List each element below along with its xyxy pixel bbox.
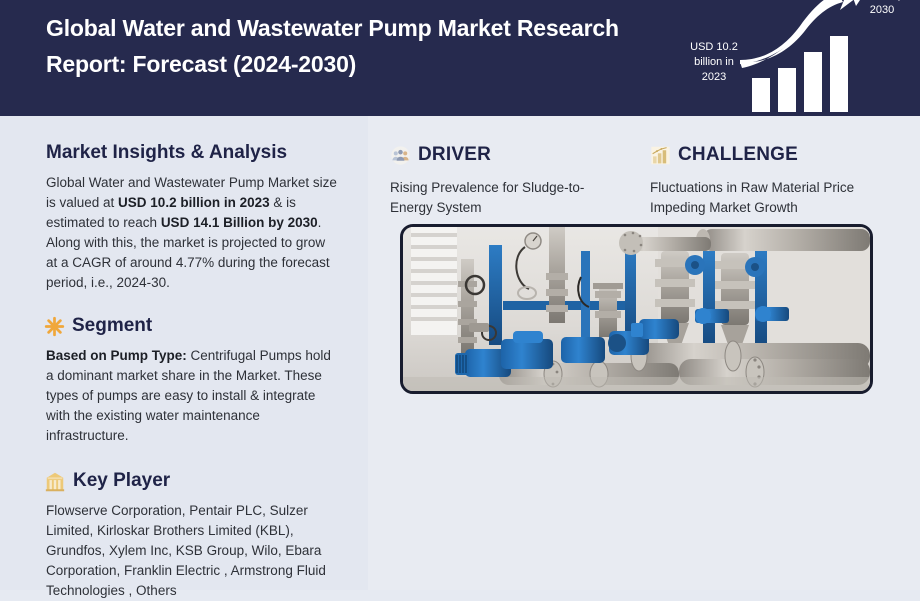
challenge-heading: CHALLENGE (650, 144, 900, 166)
segment-body-bold: Based on Pump Type: (46, 348, 187, 363)
driver-heading: DRIVER (390, 144, 626, 166)
segment-body: Based on Pump Type: Centrifugal Pumps ho… (46, 346, 340, 446)
header-bar-3 (804, 52, 822, 112)
pump-station-photo (400, 224, 873, 394)
segment-heading: Segment (44, 315, 340, 337)
infographic-root: Global Water and Wastewater Pump Market … (0, 0, 920, 590)
building-icon (44, 470, 66, 492)
right-column: DRIVER Rising Prevalence for Sludge-to-E… (368, 116, 920, 590)
key-player-body: Flowserve Corporation, Pentair PLC, Sulz… (46, 501, 340, 601)
body-area: Market Insights & Analysis Global Water … (0, 116, 920, 590)
insights-value-2023: USD 10.2 billion in 2023 (118, 195, 270, 210)
driver-heading-label: DRIVER (418, 144, 491, 166)
market-insights-heading-label: Market Insights & Analysis (46, 142, 287, 164)
segment-block: Segment Based on Pump Type: Centrifugal … (46, 315, 340, 446)
driver-body: Rising Prevalence for Sludge-to-Energy S… (390, 178, 626, 218)
insights-value-2030: USD 14.1 Billion by 2030 (161, 215, 318, 230)
left-column: Market Insights & Analysis Global Water … (0, 116, 368, 590)
segment-heading-label: Segment (72, 315, 152, 337)
challenge-block: CHALLENGE Fluctuations in Raw Material P… (650, 144, 900, 218)
header-graphic-left-label: USD 10.2 billion in 2023 (688, 40, 740, 85)
header-bar: Global Water and Wastewater Pump Market … (0, 0, 920, 116)
factory-chart-icon (650, 145, 671, 166)
key-player-block: Key Player Flowserve Corporation, Pentai… (46, 470, 340, 601)
challenge-body: Fluctuations in Raw Material Price Imped… (650, 178, 900, 218)
asterisk-icon (44, 316, 65, 337)
challenge-heading-label: CHALLENGE (678, 144, 798, 166)
page-title: Global Water and Wastewater Pump Market … (46, 10, 646, 82)
market-insights-block: Market Insights & Analysis Global Water … (46, 142, 340, 293)
header-bar-2 (778, 68, 796, 112)
header-growth-graphic: USD 10.2 billion in 2023 billion by 2030 (676, 0, 920, 116)
pump-station-photo-image (403, 227, 870, 391)
key-player-heading-label: Key Player (73, 470, 170, 492)
market-insights-body: Global Water and Wastewater Pump Market … (46, 173, 340, 293)
header-bar-1 (752, 78, 770, 112)
market-insights-heading: Market Insights & Analysis (46, 142, 340, 164)
key-player-heading: Key Player (44, 470, 340, 492)
driver-block: DRIVER Rising Prevalence for Sludge-to-E… (390, 144, 626, 218)
header-bar-4 (830, 36, 848, 112)
people-group-icon (390, 145, 411, 166)
header-graphic-bars (750, 8, 858, 112)
